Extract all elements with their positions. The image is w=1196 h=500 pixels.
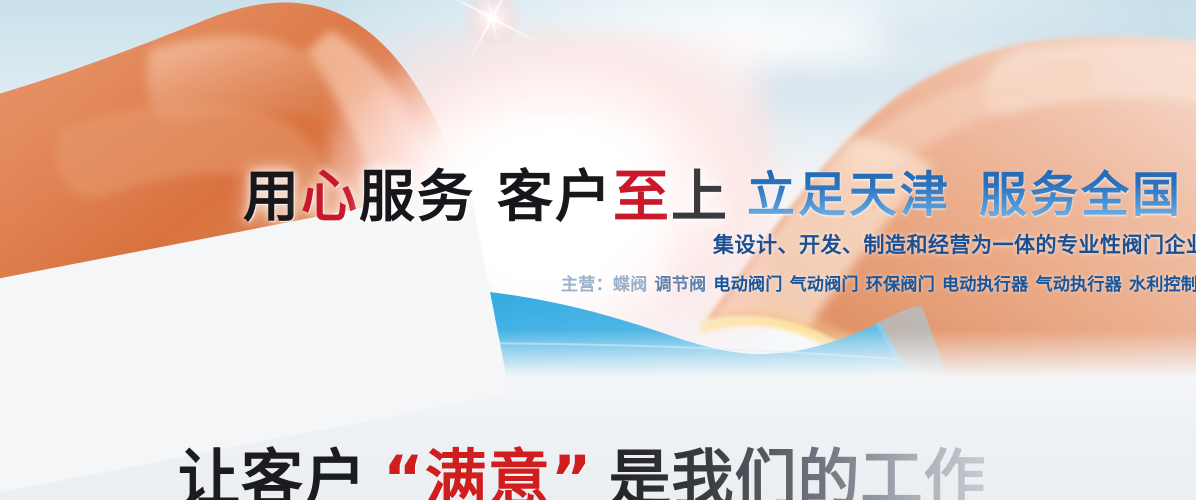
product-item-2: 电动阀门	[713, 275, 782, 295]
product-item-4: 环保阀门	[866, 275, 935, 295]
slogan-bottom-part1: 让客户	[178, 442, 367, 500]
headline-right: 服务全国	[979, 167, 1183, 223]
product-list: 主营：蝶阀调节阀电动阀门气动阀门环保阀门电动执行器气动执行器水利控制阀	[561, 270, 1196, 295]
slogan-top-part4: 上	[671, 165, 729, 230]
slogan-top: 用心服务客户至上	[243, 152, 729, 233]
slogan-top-part3: 客户	[497, 165, 613, 230]
subtitle: 集设计、开发、制造和经营为一体的专业性阀门企业	[713, 229, 1196, 259]
product-item-6: 气动执行器	[1036, 275, 1123, 295]
hero-banner: 用心服务客户至上 立足天津服务全国 集设计、开发、制造和经营为一体的专业性阀门企…	[0, 0, 1196, 500]
slogan-top-part1: 用	[243, 165, 301, 230]
product-item-7: 水利控制阀	[1129, 275, 1196, 295]
product-list-prefix: 主营：	[561, 275, 613, 295]
slogan-top-highlight1: 心	[301, 165, 359, 230]
slogan-top-highlight2: 至	[613, 165, 671, 230]
slogan-bottom-quoted: “满意”	[383, 442, 593, 500]
product-item-1: 调节阀	[655, 275, 707, 295]
slogan-bottom-part2: 是我们的工作	[609, 442, 987, 500]
headline-left: 立足天津	[747, 167, 951, 223]
product-item-0: 蝶阀	[613, 275, 648, 295]
product-item-3: 气动阀门	[790, 275, 859, 295]
headline: 立足天津服务全国	[747, 155, 1183, 225]
slogan-bottom: 让客户“满意”是我们的工作	[178, 428, 987, 500]
slogan-top-part2: 服务	[359, 165, 475, 230]
product-item-5: 电动执行器	[942, 275, 1029, 295]
